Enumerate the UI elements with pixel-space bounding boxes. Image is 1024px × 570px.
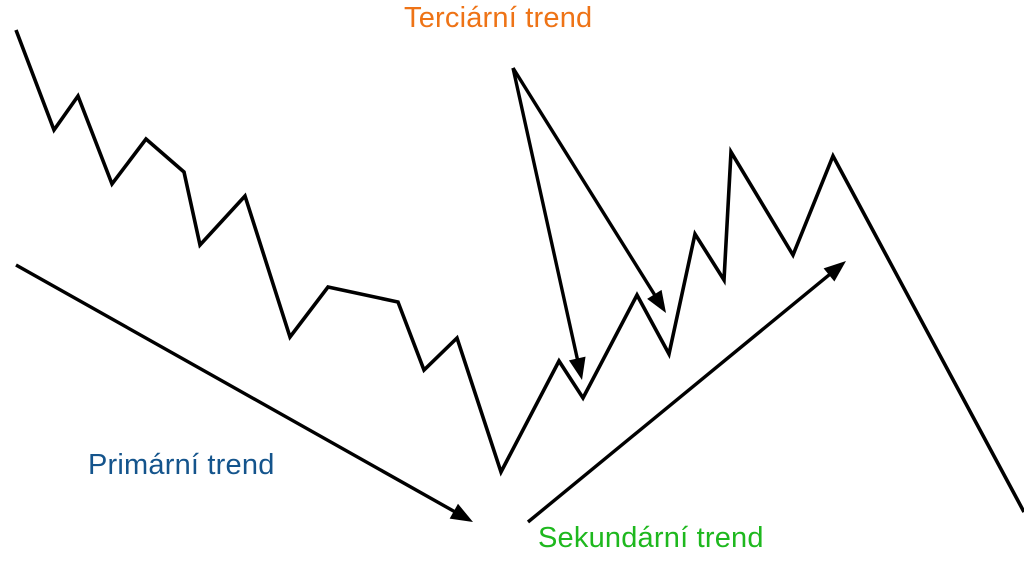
primary-trend-label: Primární trend (88, 451, 275, 480)
tertiary-trend-arrow-right (513, 68, 666, 313)
tertiary-trend-arrow-left-shaft (513, 68, 578, 362)
trend-diagram-canvas: Terciární trend Primární trend Sekundárn… (0, 0, 1024, 570)
tertiary-trend-arrow-left-head (569, 357, 586, 380)
tertiary-trend-arrow-left (513, 68, 586, 380)
primary-trend-arrow (16, 265, 473, 522)
tertiary-trend-label: Terciární trend (404, 4, 592, 33)
tertiary-trend-arrow-right-head (647, 290, 666, 313)
trend-diagram-svg (0, 0, 1024, 570)
tertiary-trend-arrow-right-shaft (513, 68, 656, 298)
primary-trend-arrow-head (450, 504, 473, 522)
secondary-trend-arrow (528, 261, 846, 522)
secondary-trend-label: Sekundární trend (538, 524, 764, 553)
